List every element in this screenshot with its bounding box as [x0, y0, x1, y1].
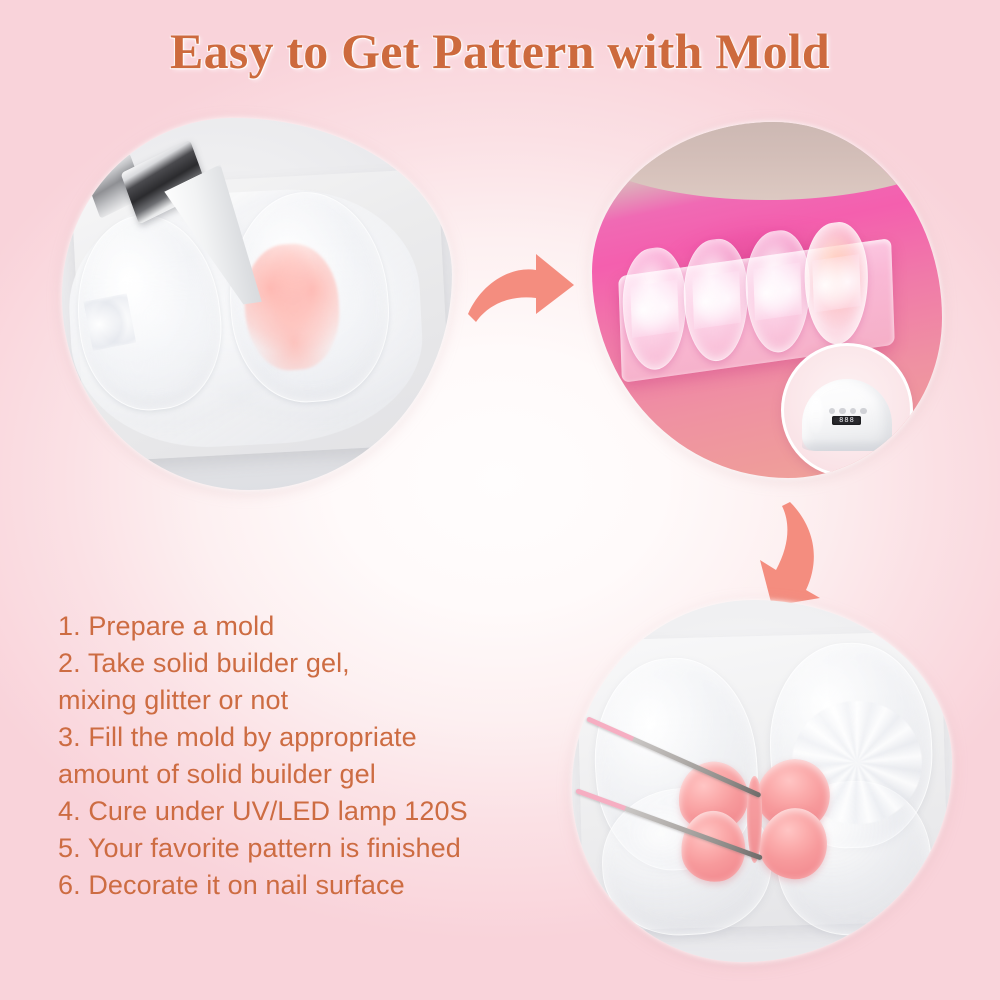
photo-finished-butterfly-image: [572, 600, 952, 962]
wing-detail: [692, 271, 741, 330]
photo-cure-mold: 888: [592, 122, 942, 478]
step-1: 1. Prepare a mold: [58, 608, 588, 645]
curved-down-arrow-icon: [738, 498, 848, 610]
lamp-button-2: [839, 408, 845, 414]
butterfly-cavity-4-filled: [803, 218, 871, 348]
infographic-canvas: Easy to Get Pattern with Mold: [0, 0, 1000, 1000]
gel-applicator-tool: [85, 122, 311, 330]
lamp-button-4: [860, 408, 866, 414]
butterfly-cavity-2: [682, 235, 750, 365]
photo-finished-butterfly: [572, 600, 952, 962]
arrow-step1-to-step2: [462, 248, 582, 340]
wing-detail: [630, 279, 679, 338]
step-2: 2. Take solid builder gel,: [58, 645, 588, 682]
wing-detail: [812, 254, 861, 313]
step-3: 3. Fill the mold by appropriate: [58, 719, 588, 756]
lamp-button-1: [829, 408, 835, 414]
instruction-steps-list: 1. Prepare a mold 2. Take solid builder …: [58, 608, 588, 904]
lamp-button-3: [850, 408, 856, 414]
finished-pink-butterfly: [678, 759, 830, 882]
uv-led-lamp: 888: [802, 379, 893, 451]
photo-fill-mold: [62, 118, 452, 490]
photo-fill-mold-image: [62, 118, 452, 490]
uv-led-lamp-inset: 888: [781, 343, 913, 477]
step-6: 6. Decorate it on nail surface: [58, 867, 588, 904]
photo-backdrop-band: [592, 122, 942, 200]
butterfly-cavity-1: [621, 244, 689, 374]
step-3-continued: amount of solid builder gel: [58, 756, 588, 793]
wing-detail: [754, 262, 803, 321]
curved-right-arrow-icon: [462, 248, 582, 340]
lamp-display-screen: 888: [832, 416, 861, 425]
photo-cure-mold-image: 888: [592, 122, 942, 478]
butterfly-cavity-3: [744, 226, 812, 356]
page-title: Easy to Get Pattern with Mold: [0, 22, 1000, 80]
lamp-timer-buttons: [829, 408, 867, 414]
step-2-continued: mixing glitter or not: [58, 682, 588, 719]
applicator-silicone-tip: [160, 164, 283, 321]
arrow-step2-to-step3: [738, 498, 848, 610]
lamp-display-digits: 888: [839, 417, 855, 424]
step-5: 5. Your favorite pattern is finished: [58, 830, 588, 867]
step-4: 4. Cure under UV/LED lamp 120S: [58, 793, 588, 830]
